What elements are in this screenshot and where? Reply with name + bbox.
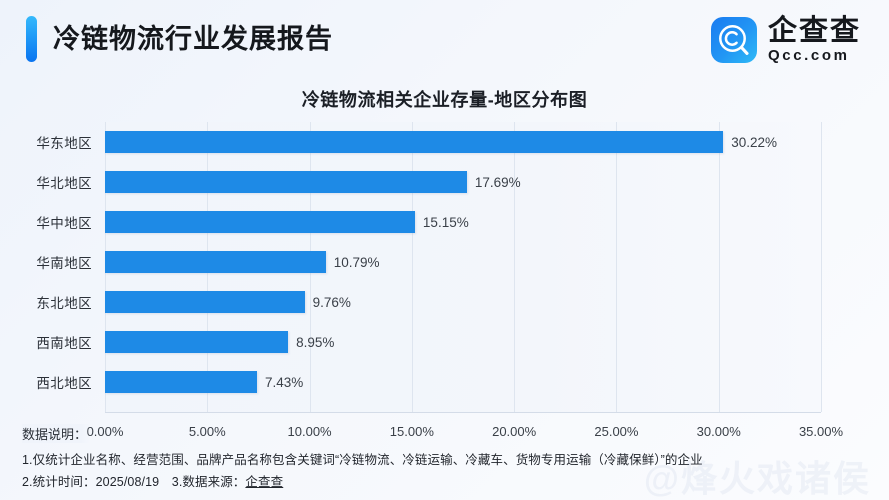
bar-value-label: 15.15% xyxy=(423,215,469,230)
bar[interactable] xyxy=(105,331,288,353)
qcc-logo-icon xyxy=(711,17,757,63)
data-source-link[interactable]: 企查查 xyxy=(245,475,283,489)
y-axis-label: 西北地区 xyxy=(0,362,92,402)
footnote-1: 1.仅统计企业名称、经营范围、品牌产品名称包含关键词“冷链物流、冷链运输、冷藏车… xyxy=(22,449,703,468)
x-axis-tick-label: 25.00% xyxy=(594,424,638,439)
chart-row: 西北地区7.43% xyxy=(0,362,889,402)
bar-group: 30.22% xyxy=(105,122,777,162)
y-axis-label: 华东地区 xyxy=(0,122,92,162)
report-header: 冷链物流行业发展报告 企查查 Qcc.com xyxy=(0,0,889,78)
bar-chart: 华东地区30.22%华北地区17.69%华中地区15.15%华南地区10.79%… xyxy=(0,122,889,418)
brand-logo[interactable]: 企查查 Qcc.com xyxy=(711,16,861,64)
bar[interactable] xyxy=(105,131,723,153)
bar-value-label: 30.22% xyxy=(731,135,777,150)
bar[interactable] xyxy=(105,171,467,193)
y-axis-label: 华中地区 xyxy=(0,202,92,242)
x-axis-ticks: 0.00%5.00%10.00%15.00%20.00%25.00%30.00%… xyxy=(0,424,889,442)
x-axis-line xyxy=(105,412,821,413)
chart-row: 华东地区30.22% xyxy=(0,122,889,162)
notes-label: 数据说明： xyxy=(22,424,89,443)
chart-row: 华南地区10.79% xyxy=(0,242,889,282)
y-axis-label: 西南地区 xyxy=(0,322,92,362)
bar-group: 9.76% xyxy=(105,282,351,322)
y-axis-label: 东北地区 xyxy=(0,282,92,322)
x-axis-tick-label: 10.00% xyxy=(288,424,332,439)
x-axis-tick-label: 20.00% xyxy=(492,424,536,439)
bar-group: 10.79% xyxy=(105,242,380,282)
brand-logo-text: 企查查 Qcc.com xyxy=(768,16,861,64)
x-axis-tick-label: 5.00% xyxy=(189,424,226,439)
bar[interactable] xyxy=(105,211,415,233)
bar-value-label: 10.79% xyxy=(334,255,380,270)
page-title: 冷链物流行业发展报告 xyxy=(53,18,333,60)
title-accent-bar xyxy=(26,16,37,62)
chart-row: 西南地区8.95% xyxy=(0,322,889,362)
bar[interactable] xyxy=(105,371,257,393)
x-axis-tick-label: 0.00% xyxy=(87,424,124,439)
bar-group: 17.69% xyxy=(105,162,521,202)
brand-name-en: Qcc.com xyxy=(768,47,861,64)
footnote-2-text: 2.统计时间：2025/08/19 3.数据来源： xyxy=(22,475,245,489)
chart-row: 东北地区9.76% xyxy=(0,282,889,322)
bar-value-label: 8.95% xyxy=(296,335,334,350)
y-axis-label: 华北地区 xyxy=(0,162,92,202)
bar-value-label: 9.76% xyxy=(313,295,351,310)
bar-group: 7.43% xyxy=(105,362,303,402)
chart-row: 华中地区15.15% xyxy=(0,202,889,242)
bar[interactable] xyxy=(105,291,305,313)
x-axis-tick-label: 15.00% xyxy=(390,424,434,439)
brand-name-cn: 企查查 xyxy=(768,16,861,46)
chart-title: 冷链物流相关企业存量-地区分布图 xyxy=(0,86,889,112)
y-axis-label: 华南地区 xyxy=(0,242,92,282)
x-axis-tick-label: 30.00% xyxy=(697,424,741,439)
bar-group: 8.95% xyxy=(105,322,334,362)
bar[interactable] xyxy=(105,251,326,273)
x-axis-tick-label: 35.00% xyxy=(799,424,843,439)
chart-row: 华北地区17.69% xyxy=(0,162,889,202)
bar-value-label: 17.69% xyxy=(475,175,521,190)
footnote-2: 2.统计时间：2025/08/19 3.数据来源：企查查 xyxy=(22,471,283,490)
bar-group: 15.15% xyxy=(105,202,469,242)
bar-value-label: 7.43% xyxy=(265,375,303,390)
